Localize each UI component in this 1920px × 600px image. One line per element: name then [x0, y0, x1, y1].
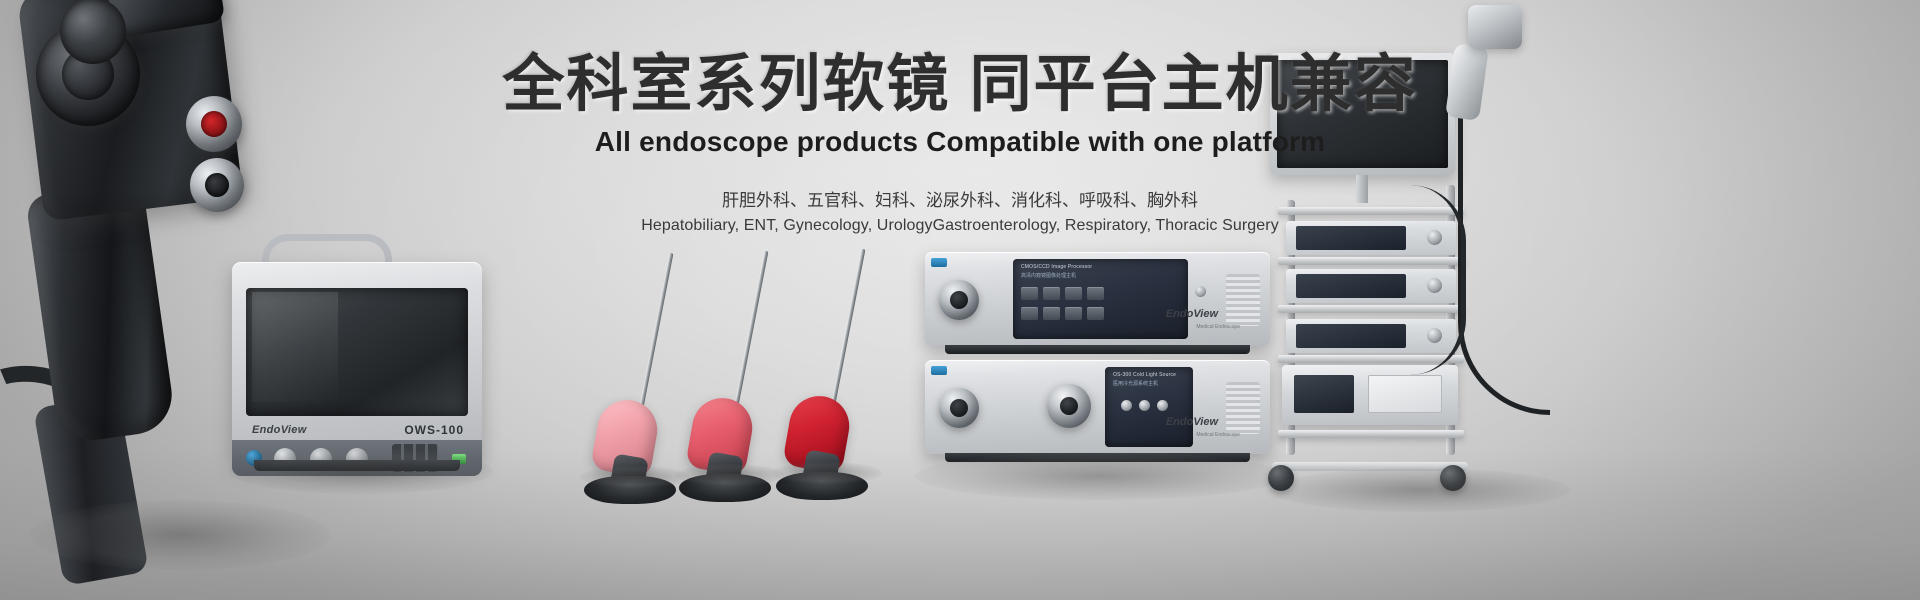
console-bottom-brand: EndoView — [1166, 416, 1218, 428]
console-button — [1021, 307, 1038, 320]
page-title: 全科室系列软镜 同平台主机兼容 — [0, 52, 1920, 118]
console-top-indicator-row — [1195, 286, 1206, 297]
forceps-red — [752, 246, 912, 496]
cart-device-4 — [1282, 365, 1458, 425]
console-button — [1065, 287, 1082, 300]
console-button — [1065, 307, 1082, 320]
monitor-shadow — [228, 448, 493, 494]
console-light-source: OS-300 Cold Light Source 医用冷光源系统主机 EndoV… — [925, 360, 1270, 454]
console-top-brand: EndoView — [1166, 308, 1218, 320]
console-stack-shadow — [915, 452, 1285, 500]
cart-scope-head — [1468, 5, 1522, 49]
monitor-screen — [246, 288, 468, 416]
forceps-shaft — [830, 249, 865, 412]
page-subtitle: All endoscope products Compatible with o… — [0, 126, 1920, 158]
console-top-vents — [1226, 274, 1260, 326]
console-bottom-power-knob — [939, 388, 979, 428]
console-button — [1043, 287, 1060, 300]
monitor-model-label: OWS-100 — [404, 423, 464, 437]
console-brand-badge — [931, 258, 947, 267]
console-top-panel-subtitle: 高清内窥镜图像处理主机 — [1021, 272, 1076, 279]
console-brightness-dial — [1047, 384, 1091, 428]
banner-root: 全科室系列软镜 同平台主机兼容 All endoscope products C… — [0, 0, 1920, 600]
console-indicator — [1195, 286, 1206, 297]
cart-device-panel — [1368, 375, 1442, 413]
console-bottom-panel-subtitle: 医用冷光源系统主机 — [1113, 380, 1158, 387]
console-indicator — [1139, 400, 1150, 411]
console-button — [1087, 307, 1104, 320]
console-button — [1043, 307, 1060, 320]
endoscope-shadow — [30, 500, 330, 570]
console-stack: CMOS/CCD Image Processor 高清内窥镜图像处理主机 — [925, 252, 1270, 467]
console-bottom-panel-title: OS-300 Cold Light Source — [1113, 372, 1176, 378]
console-image-processor: CMOS/CCD Image Processor 高清内窥镜图像处理主机 — [925, 252, 1270, 346]
cart-device-faceplate — [1296, 274, 1406, 298]
console-button — [1021, 287, 1038, 300]
console-button — [1087, 287, 1104, 300]
console-top-feet — [945, 345, 1250, 354]
console-top-main-knob — [939, 280, 979, 320]
banner-text-block: 全科室系列软镜 同平台主机兼容 All endoscope products C… — [0, 52, 1920, 235]
console-top-panel: CMOS/CCD Image Processor 高清内窥镜图像处理主机 — [1013, 259, 1188, 339]
console-bottom-indicator-row — [1121, 400, 1168, 411]
console-top-button-row — [1021, 287, 1104, 300]
console-indicator — [1157, 400, 1168, 411]
console-indicator — [1121, 400, 1132, 411]
console-bottom-brand-sub: Medical Endoscope — [1196, 432, 1240, 438]
console-top-button-row-2 — [1021, 307, 1104, 320]
cart-shadow — [1270, 468, 1570, 512]
console-top-panel-title: CMOS/CCD Image Processor — [1021, 264, 1092, 270]
specialties-english: Hepatobiliary, ENT, Gynecology, UrologyG… — [0, 217, 1920, 235]
cart-shelf-5 — [1278, 430, 1464, 438]
forceps-red-shadow — [772, 462, 882, 484]
cart-device-display — [1294, 375, 1354, 413]
console-brand-badge — [931, 366, 947, 375]
specialties-chinese: 肝胆外科、五官科、妇科、泌尿外科、消化科、呼吸科、胸外科 — [0, 188, 1920, 214]
cart-device-faceplate — [1296, 324, 1406, 348]
monitor-chassis: EndoView OWS-100 — [232, 262, 482, 462]
console-bottom-vents — [1226, 382, 1260, 434]
monitor-unit-ows100: EndoView OWS-100 — [232, 248, 482, 463]
monitor-brand-label: EndoView — [252, 424, 307, 436]
console-top-brand-sub: Medical Endoscope — [1196, 324, 1240, 330]
